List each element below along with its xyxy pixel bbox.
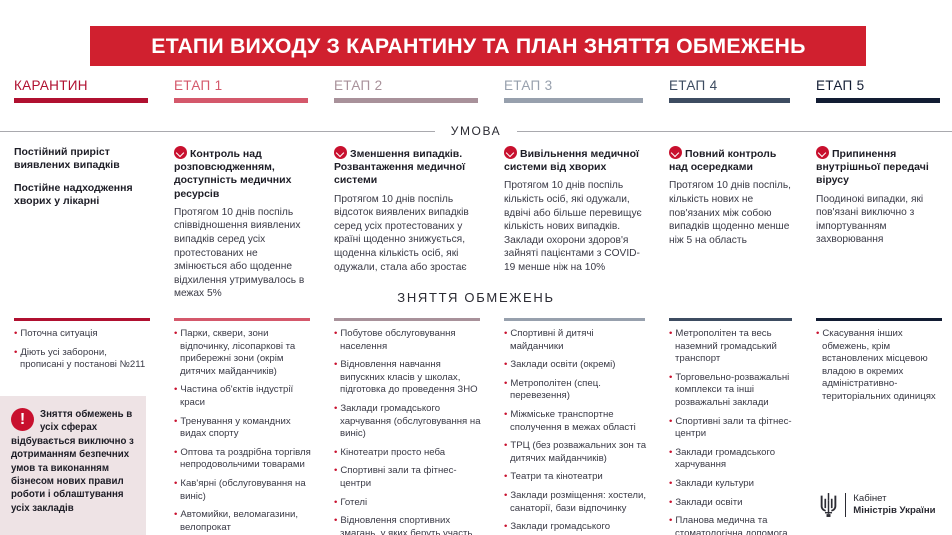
- condition-title-text-2: Зменшення випадків. Розвантаження медичн…: [334, 148, 465, 186]
- stage-title-2: ЕТАП 2: [334, 78, 478, 93]
- list-item: Частина об'єктів індустрії краси: [174, 384, 312, 409]
- stage-columns: КАРАНТИН Постійний приріст виявлених вип…: [0, 78, 952, 535]
- list-item: Парки, сквери, зони відпочинку, лісопарк…: [174, 328, 312, 378]
- condition-body-3: Протягом 10 днів поспіль кількість осіб,…: [504, 179, 645, 274]
- list-item: Планова медична та стоматологічна допомо…: [669, 515, 794, 535]
- chevron-down-icon: [334, 146, 347, 159]
- list-item: Автомийки, веломагазини, велопрокат: [174, 509, 312, 534]
- logo-text: Кабінет Міністрів України: [853, 493, 935, 516]
- stage-column-4: ЕТАП 4 Повний контроль над осередками Пр…: [655, 78, 802, 535]
- stage-column-2: ЕТАП 2 Зменшення випадків. Розвантаження…: [320, 78, 490, 535]
- restrictions-list-4: Метрополітен та весь наземний громадськи…: [669, 328, 794, 535]
- condition-block-1: Контроль над розповсюдженням, доступніст…: [174, 146, 310, 301]
- condition-body-4: Протягом 10 днів поспіль, кількість нови…: [669, 179, 792, 247]
- list-item: Кав'ярні (обслуговування на виніс): [174, 478, 312, 503]
- list-item: Метрополітен та весь наземний громадськи…: [669, 328, 794, 366]
- stage-rule-5: [816, 98, 940, 103]
- list-item: Театри та кінотеатри: [504, 471, 647, 484]
- stage-column-quarantine: КАРАНТИН Постійний приріст виявлених вип…: [0, 78, 160, 535]
- restrictions-list-1: Парки, сквери, зони відпочинку, лісопарк…: [174, 328, 312, 535]
- condition-title-text-5: Припинення внутрішньої передачі вірусу: [816, 148, 929, 186]
- warning-box: Зняття обмежень в усіх сферах відбуваєть…: [0, 396, 146, 535]
- list-item: ТРЦ (без розважальних зон та дитячих май…: [504, 440, 647, 465]
- stage-title-0: КАРАНТИН: [14, 78, 148, 93]
- list-item: Спортивні зали та фітнес-центри: [669, 416, 794, 441]
- stage-column-1: ЕТАП 1 Контроль над розповсюдженням, дос…: [160, 78, 320, 535]
- stage-title-4: ЕТАП 4: [669, 78, 790, 93]
- condition-title-2: Зменшення випадків. Розвантаження медичн…: [334, 146, 480, 188]
- logo-line-2: Міністрів України: [853, 505, 935, 517]
- restrictions-rule-2: [334, 318, 480, 321]
- title-banner: ЕТАПИ ВИХОДУ З КАРАНТИНУ ТА ПЛАН ЗНЯТТЯ …: [90, 26, 866, 66]
- logo-divider: [845, 493, 846, 517]
- condition-body-1: Протягом 10 днів поспіль співвідношення …: [174, 206, 310, 301]
- list-item: Метрополітен (спец. перевезення): [504, 378, 647, 403]
- condition-block-5: Припинення внутрішньої передачі вірусу П…: [816, 146, 942, 247]
- cabinet-of-ministers-logo: Кабінет Міністрів України: [818, 492, 936, 518]
- page-title: ЕТАПИ ВИХОДУ З КАРАНТИНУ ТА ПЛАН ЗНЯТТЯ …: [151, 34, 805, 59]
- exclamation-icon: [11, 408, 34, 431]
- stage-title-1: ЕТАП 1: [174, 78, 308, 93]
- list-item: Заклади освіти: [669, 497, 794, 510]
- list-item: Заклади розміщення: хостели, санаторії, …: [504, 490, 647, 515]
- condition-line-0-1: Постійне надходження хворих у лікарні: [14, 182, 150, 209]
- restrictions-rule-5: [816, 318, 942, 321]
- chevron-down-icon: [816, 146, 829, 159]
- restrictions-rule-3: [504, 318, 645, 321]
- list-item: Скасування інших обмежень, крім встановл…: [816, 328, 944, 404]
- stage-column-3: ЕТАП 3 Вивільнення медичної системи від …: [490, 78, 655, 535]
- condition-title-text-4: Повний контроль над осередками: [669, 148, 776, 173]
- stage-column-5: ЕТАП 5 Припинення внутрішньої передачі в…: [802, 78, 952, 535]
- chevron-down-icon: [174, 146, 187, 159]
- stage-title-5: ЕТАП 5: [816, 78, 940, 93]
- stage-rule-1: [174, 98, 308, 103]
- restrictions-rule-4: [669, 318, 792, 321]
- condition-line-0-0: Постійний приріст виявлених випадків: [14, 146, 150, 173]
- list-item: Готелі: [334, 497, 482, 510]
- list-item: Спортивні зали та фітнес-центри: [334, 465, 482, 490]
- stage-rule-4: [669, 98, 790, 103]
- trident-icon: [818, 492, 839, 518]
- list-item: Поточна ситуація: [14, 328, 152, 341]
- list-item: Кінотеатри просто неба: [334, 447, 482, 460]
- list-item: Побутове обслуговування населення: [334, 328, 482, 353]
- condition-title-5: Припинення внутрішньої передачі вірусу: [816, 146, 942, 188]
- list-item: Заклади громадського харчування з відвід…: [504, 521, 647, 535]
- infographic-page: ЕТАПИ ВИХОДУ З КАРАНТИНУ ТА ПЛАН ЗНЯТТЯ …: [0, 0, 952, 535]
- condition-block-3: Вивільнення медичної системи від хворих …: [504, 146, 645, 275]
- list-item: Відновлення спортивних змагань, у яких б…: [334, 515, 482, 535]
- stage-rule-2: [334, 98, 478, 103]
- list-item: Тренування у командних видах спорту: [174, 416, 312, 441]
- list-item: Діють усі заборони, прописані у постанов…: [14, 347, 152, 372]
- condition-title-1: Контроль над розповсюдженням, доступніст…: [174, 146, 310, 201]
- restrictions-rule-0: [14, 318, 150, 321]
- stage-rule-3: [504, 98, 643, 103]
- condition-title-3: Вивільнення медичної системи від хворих: [504, 146, 645, 174]
- list-item: Заклади культури: [669, 478, 794, 491]
- list-item: Міжміське транспортне сполучення в межах…: [504, 409, 647, 434]
- restrictions-rule-1: [174, 318, 310, 321]
- list-item: Торговельно-розважальні комплекси та інш…: [669, 372, 794, 410]
- logo-line-1: Кабінет: [853, 493, 935, 505]
- condition-body-2: Протягом 10 днів поспіль відсоток виявле…: [334, 193, 480, 275]
- condition-title-text-3: Вивільнення медичної системи від хворих: [504, 148, 639, 173]
- list-item: Відновлення навчання випускних класів у …: [334, 359, 482, 397]
- stage-rule-0: [14, 98, 148, 103]
- condition-block-0: Постійний приріст виявлених випадків Пос…: [14, 146, 150, 218]
- restrictions-list-3: Спортивні й дитячі майданчики Заклади ос…: [504, 328, 647, 535]
- restrictions-list-2: Побутове обслуговування населення Віднов…: [334, 328, 482, 535]
- chevron-down-icon: [504, 146, 517, 159]
- restrictions-list-5: Скасування інших обмежень, крім встановл…: [816, 328, 944, 410]
- list-item: Заклади громадського харчування (обслуго…: [334, 403, 482, 441]
- condition-title-text-1: Контроль над розповсюдженням, доступніст…: [174, 148, 291, 200]
- condition-block-4: Повний контроль над осередками Протягом …: [669, 146, 792, 247]
- list-item: Спортивні й дитячі майданчики: [504, 328, 647, 353]
- chevron-down-icon: [669, 146, 682, 159]
- condition-title-4: Повний контроль над осередками: [669, 146, 792, 174]
- condition-block-2: Зменшення випадків. Розвантаження медичн…: [334, 146, 480, 274]
- condition-body-5: Поодинокі випадки, які пов'язані виключн…: [816, 193, 942, 247]
- list-item: Заклади громадського харчування: [669, 447, 794, 472]
- stage-title-3: ЕТАП 3: [504, 78, 643, 93]
- list-item: Оптова та роздрібна торгівля непродоволь…: [174, 447, 312, 472]
- restrictions-list-0: Поточна ситуація Діють усі заборони, про…: [14, 328, 152, 378]
- list-item: Заклади освіти (окремі): [504, 359, 647, 372]
